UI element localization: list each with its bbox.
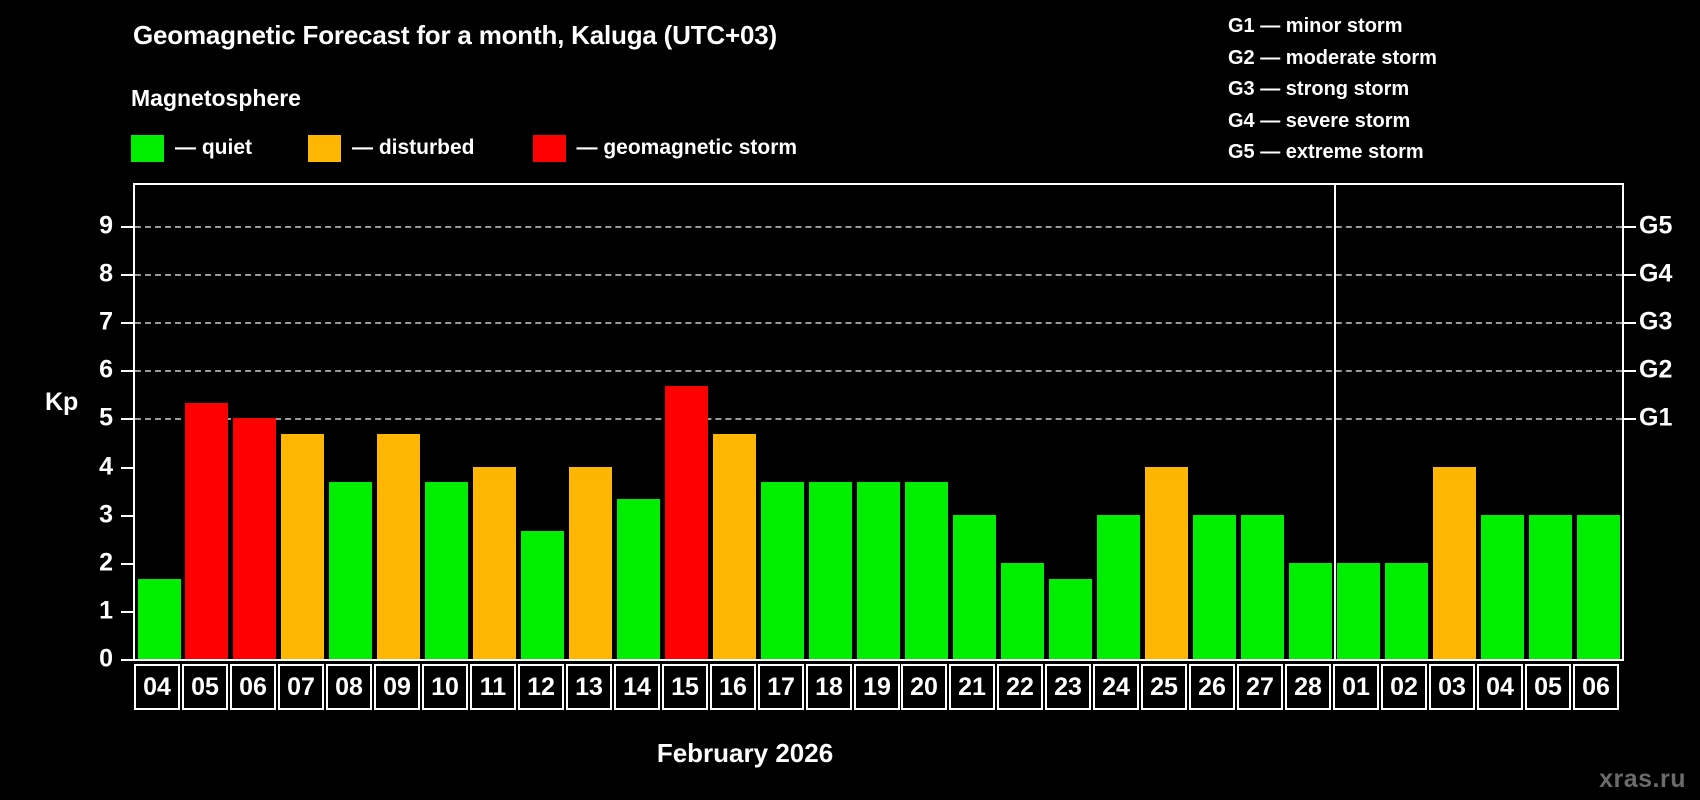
y-tick-label-4: 4 — [73, 452, 113, 481]
plot-frame — [133, 183, 1624, 661]
y-tick-label-2: 2 — [73, 548, 113, 577]
bar-03[interactable] — [1433, 467, 1476, 659]
y-tick-label-9: 9 — [73, 211, 113, 240]
bar-19[interactable] — [857, 482, 900, 659]
gridline-kp-6 — [135, 370, 1622, 372]
bar-06[interactable] — [233, 418, 276, 659]
g-axis-label-G2: G2 — [1639, 356, 1672, 385]
y-tick-9 — [121, 226, 133, 228]
date-label-28[interactable]: 04 — [1477, 664, 1523, 710]
g-axis-label-G1: G1 — [1639, 404, 1672, 433]
g-axis-label-G3: G3 — [1639, 308, 1672, 337]
g-axis-label-G4: G4 — [1639, 260, 1672, 289]
date-label-26[interactable]: 02 — [1381, 664, 1427, 710]
gridline-kp-9 — [135, 226, 1622, 228]
bar-20[interactable] — [905, 482, 948, 659]
bar-15[interactable] — [665, 386, 708, 659]
y-tick-label-1: 1 — [73, 596, 113, 625]
bar-07[interactable] — [281, 434, 324, 659]
date-label-30[interactable]: 06 — [1573, 664, 1619, 710]
date-label-27[interactable]: 03 — [1429, 664, 1475, 710]
date-label-25[interactable]: 01 — [1333, 664, 1379, 710]
y-tick-1 — [121, 611, 133, 613]
g-tick-G1 — [1624, 418, 1636, 420]
date-label-5[interactable]: 09 — [374, 664, 420, 710]
date-label-1[interactable]: 05 — [182, 664, 228, 710]
y-tick-label-8: 8 — [73, 260, 113, 289]
date-label-21[interactable]: 25 — [1141, 664, 1187, 710]
y-tick-3 — [121, 515, 133, 517]
bar-09[interactable] — [377, 434, 420, 659]
bar-08[interactable] — [329, 482, 372, 659]
date-label-29[interactable]: 05 — [1525, 664, 1571, 710]
date-label-0[interactable]: 04 — [134, 664, 180, 710]
x-axis-date-labels: 0405060708091011121314151617181920212223… — [133, 664, 1624, 710]
month-separator-line — [1334, 185, 1336, 659]
y-tick-label-5: 5 — [73, 404, 113, 433]
bar-04[interactable] — [1481, 515, 1524, 659]
bar-28[interactable] — [1289, 563, 1332, 659]
bar-06[interactable] — [1577, 515, 1620, 659]
bar-27[interactable] — [1241, 515, 1284, 659]
date-label-4[interactable]: 08 — [326, 664, 372, 710]
date-label-18[interactable]: 22 — [997, 664, 1043, 710]
y-tick-4 — [121, 467, 133, 469]
bar-05[interactable] — [185, 403, 228, 659]
g-tick-G4 — [1624, 274, 1636, 276]
watermark: xras.ru — [1599, 765, 1686, 794]
date-label-8[interactable]: 12 — [518, 664, 564, 710]
date-label-13[interactable]: 17 — [758, 664, 804, 710]
date-label-10[interactable]: 14 — [614, 664, 660, 710]
date-label-11[interactable]: 15 — [662, 664, 708, 710]
y-tick-8 — [121, 274, 133, 276]
g-tick-G2 — [1624, 370, 1636, 372]
y-tick-label-7: 7 — [73, 308, 113, 337]
chart-plot-area: Kp 0123456789 G1G2G3G4G5 040506070809101… — [0, 0, 1700, 800]
y-tick-label-3: 3 — [73, 500, 113, 529]
g-axis-label-G5: G5 — [1639, 211, 1672, 240]
gridline-kp-5 — [135, 418, 1622, 420]
bar-05[interactable] — [1529, 515, 1572, 659]
bar-11[interactable] — [473, 467, 516, 659]
bar-04[interactable] — [138, 579, 181, 659]
bar-02[interactable] — [1385, 563, 1428, 659]
date-label-9[interactable]: 13 — [566, 664, 612, 710]
y-tick-6 — [121, 370, 133, 372]
bar-23[interactable] — [1049, 579, 1092, 659]
date-label-17[interactable]: 21 — [949, 664, 995, 710]
date-label-19[interactable]: 23 — [1045, 664, 1091, 710]
bar-13[interactable] — [569, 467, 612, 659]
y-tick-7 — [121, 322, 133, 324]
g-tick-G5 — [1624, 226, 1636, 228]
y-tick-label-0: 0 — [73, 645, 113, 674]
bar-24[interactable] — [1097, 515, 1140, 659]
bar-26[interactable] — [1193, 515, 1236, 659]
date-label-3[interactable]: 07 — [278, 664, 324, 710]
date-label-6[interactable]: 10 — [422, 664, 468, 710]
bar-10[interactable] — [425, 482, 468, 659]
date-label-23[interactable]: 27 — [1237, 664, 1283, 710]
date-label-12[interactable]: 16 — [710, 664, 756, 710]
x-axis-title: February 2026 — [0, 738, 1490, 769]
gridline-kp-8 — [135, 274, 1622, 276]
bar-01[interactable] — [1337, 563, 1380, 659]
y-tick-label-6: 6 — [73, 356, 113, 385]
plot-inner — [135, 185, 1622, 659]
y-tick-5 — [121, 418, 133, 420]
y-tick-2 — [121, 563, 133, 565]
bar-16[interactable] — [713, 434, 756, 659]
date-label-7[interactable]: 11 — [470, 664, 516, 710]
bar-22[interactable] — [1001, 563, 1044, 659]
date-label-15[interactable]: 19 — [854, 664, 900, 710]
date-label-24[interactable]: 28 — [1285, 664, 1331, 710]
gridline-kp-7 — [135, 322, 1622, 324]
bar-12[interactable] — [521, 531, 564, 659]
date-label-2[interactable]: 06 — [230, 664, 276, 710]
date-label-22[interactable]: 26 — [1189, 664, 1235, 710]
bar-14[interactable] — [617, 499, 660, 659]
bar-18[interactable] — [809, 482, 852, 659]
bar-25[interactable] — [1145, 467, 1188, 659]
y-tick-0 — [121, 659, 133, 661]
bar-17[interactable] — [761, 482, 804, 659]
date-label-14[interactable]: 18 — [806, 664, 852, 710]
date-label-20[interactable]: 24 — [1093, 664, 1139, 710]
g-tick-G3 — [1624, 322, 1636, 324]
date-label-16[interactable]: 20 — [901, 664, 947, 710]
bar-21[interactable] — [953, 515, 996, 659]
